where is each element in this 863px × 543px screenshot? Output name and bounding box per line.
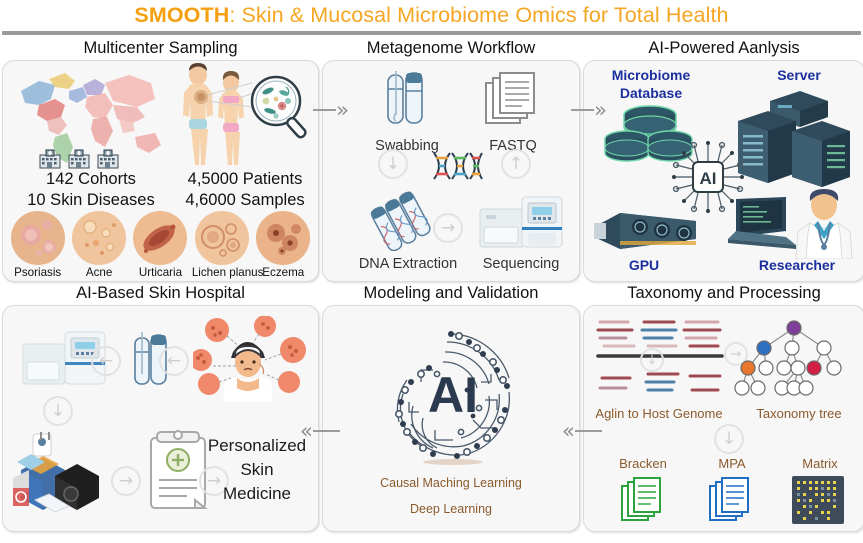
hospital-icon	[39, 149, 61, 169]
page-title: SMOOTH: Skin & Mucosal Microbiome Omics …	[134, 3, 728, 28]
disease-label: Psoriasis	[8, 266, 68, 279]
connector-line	[313, 109, 336, 111]
up-arrow-icon: ↑	[501, 149, 531, 179]
cell-modeling-validation: Modeling and Validation	[322, 283, 580, 533]
disease-label: Lichen planus	[192, 266, 252, 279]
cell-taxonomy-processing: Taxonomy and Processing	[583, 283, 863, 533]
disease-list: Psoriasis Acne Urticaria	[7, 211, 314, 279]
gpu-card-icon	[590, 197, 700, 259]
connector-line	[313, 430, 340, 432]
step-label: DNA Extraction	[349, 256, 467, 272]
step-fastq: FASTQ	[463, 69, 563, 154]
hospital-icon	[97, 149, 119, 169]
documents-icon	[478, 69, 548, 133]
sampling-stats-left: 142 Cohorts 10 Skin Diseases	[11, 169, 171, 211]
documents-icon	[708, 474, 756, 526]
figure-root: SMOOTH: Skin & Mucosal Microbiome Omics …	[0, 0, 863, 543]
step-label: Sequencing	[471, 256, 571, 272]
acne-swatch	[72, 211, 126, 265]
title-brand: SMOOTH	[134, 3, 229, 27]
panel-modeling-validation: AI Causal Maching Learning Deep Learning	[322, 305, 580, 532]
label-bracken: Bracken	[598, 456, 688, 471]
patient-skin-diagnosis-icon	[193, 316, 313, 402]
figure-title-bar: SMOOTH: Skin & Mucosal Microbiome Omics …	[0, 0, 863, 30]
documents-icon	[620, 474, 668, 526]
panel-skin-hospital: ← ←	[2, 305, 319, 532]
lab-robot-icon	[11, 432, 107, 512]
stat-diseases: 10 Skin Diseases	[11, 190, 171, 211]
chevron-left-icon: «	[300, 424, 313, 438]
label-server: Server	[744, 67, 854, 83]
taxonomy-tree-icon	[726, 314, 852, 406]
down-arrow-icon: ↓	[43, 396, 73, 426]
psoriasis-swatch	[11, 211, 65, 265]
disease-item: Lichen planus	[192, 211, 252, 279]
connector-line	[575, 430, 602, 432]
stat-cohorts: 142 Cohorts	[11, 169, 171, 190]
magnifier-microbes-icon	[246, 73, 312, 141]
laptop-icon	[724, 193, 802, 257]
stat-patients: 4,5000 Patients	[175, 169, 315, 190]
panel-grid: Multicenter Sampling	[0, 38, 863, 533]
label-gpu: GPU	[594, 257, 694, 273]
connector-metagenome-to-ai: »	[571, 103, 607, 117]
step-sequencing: Sequencing	[471, 193, 571, 272]
left-arrow-icon: ←	[91, 346, 121, 376]
lichen-planus-swatch	[195, 211, 249, 265]
panel-metagenome-workflow: Swabbing FASTQ ↓ ↑	[322, 60, 580, 282]
disease-item: Urticaria	[130, 211, 190, 279]
caption-causal-ml: Causal Maching Learning	[323, 476, 579, 490]
connector-taxonomy-to-modeling: «	[562, 424, 602, 438]
caption-deep-learning: Deep Learning	[323, 502, 579, 516]
sequencer-icon	[478, 193, 564, 251]
label-microbiome-database-line2: Database	[596, 85, 706, 101]
eczema-swatch	[256, 211, 310, 265]
panel-title-hospital: AI-Based Skin Hospital	[2, 283, 319, 305]
panel-title-sampling: Multicenter Sampling	[2, 38, 319, 60]
label-researcher: Researcher	[742, 257, 852, 273]
svg-text:AI: AI	[700, 169, 717, 188]
cell-multicenter-sampling: Multicenter Sampling	[2, 38, 319, 283]
cell-metagenome-workflow: Metagenome Workflow Swabbing	[322, 38, 580, 283]
label-taxonomy-tree: Taxonomy tree	[744, 406, 854, 421]
dna-helix-icon	[430, 151, 486, 181]
disease-label: Eczema	[253, 266, 313, 279]
connector-modeling-to-hospital: «	[300, 424, 340, 438]
connector-sampling-to-metagenome: »	[313, 103, 349, 117]
down-arrow-icon: ↓	[378, 149, 408, 179]
panel-title-ai-analysis: AI-Powered Aanlysis	[583, 38, 863, 60]
title-rest: : Skin & Mucosal Microbiome Omics for To…	[229, 3, 728, 27]
right-arrow-icon: →	[111, 466, 141, 496]
server-rack-icon	[734, 87, 854, 187]
personalized-medicine-label: Personalized Skin Medicine	[204, 434, 310, 506]
connector-line	[571, 109, 594, 111]
cell-ai-analysis: AI-Powered Aanlysis Microbiome Database	[583, 38, 863, 283]
pm-line-3: Medicine	[204, 482, 310, 506]
disease-label: Acne	[69, 266, 129, 279]
panel-ai-analysis: Microbiome Database	[583, 60, 863, 282]
chevron-right-icon: »	[336, 103, 349, 117]
pm-line-2: Skin	[204, 458, 310, 482]
urticaria-swatch	[133, 211, 187, 265]
hospital-icon	[68, 149, 90, 169]
researcher-icon	[792, 187, 856, 259]
left-arrow-icon: ←	[159, 346, 189, 376]
matrix-grid-icon	[792, 476, 844, 524]
cell-skin-hospital: AI-Based Skin Hospital ←	[2, 283, 319, 533]
hospital-icons	[39, 149, 119, 169]
pm-line-1: Personalized	[204, 434, 310, 458]
panel-title-taxonomy: Taxonomy and Processing	[583, 283, 863, 305]
disease-item: Eczema	[253, 211, 313, 279]
ai-circuit-logo-icon: AI	[373, 320, 533, 470]
down-arrow-icon: ↓	[640, 348, 664, 372]
label-microbiome-database-line1: Microbiome	[596, 67, 706, 83]
test-tube-swab-icon	[372, 69, 442, 133]
panel-title-modeling: Modeling and Validation	[322, 283, 580, 305]
label-align-host-genome: Aglin to Host Genome	[594, 406, 724, 421]
ai-logo-text: AI	[428, 367, 478, 423]
disease-label: Urticaria	[130, 266, 190, 279]
stat-samples: 4,6000 Samples	[175, 190, 315, 211]
right-arrow-icon: →	[433, 213, 463, 243]
panel-title-metagenome: Metagenome Workflow	[322, 38, 580, 60]
step-swabbing: Swabbing	[359, 69, 455, 154]
label-mpa: MPA	[692, 456, 772, 471]
chevron-left-icon: «	[562, 424, 575, 438]
disease-item: Acne	[69, 211, 129, 279]
sampling-stats-right: 4,5000 Patients 4,6000 Samples	[175, 169, 315, 211]
title-divider	[2, 31, 861, 35]
down-arrow-icon: ↓	[714, 424, 744, 454]
disease-item: Psoriasis	[8, 211, 68, 279]
label-matrix: Matrix	[780, 456, 860, 471]
chevron-right-icon: »	[594, 103, 607, 117]
panel-multicenter-sampling: 142 Cohorts 10 Skin Diseases 4,5000 Pati…	[2, 60, 319, 282]
panel-taxonomy-processing: ↓ →	[583, 305, 863, 532]
